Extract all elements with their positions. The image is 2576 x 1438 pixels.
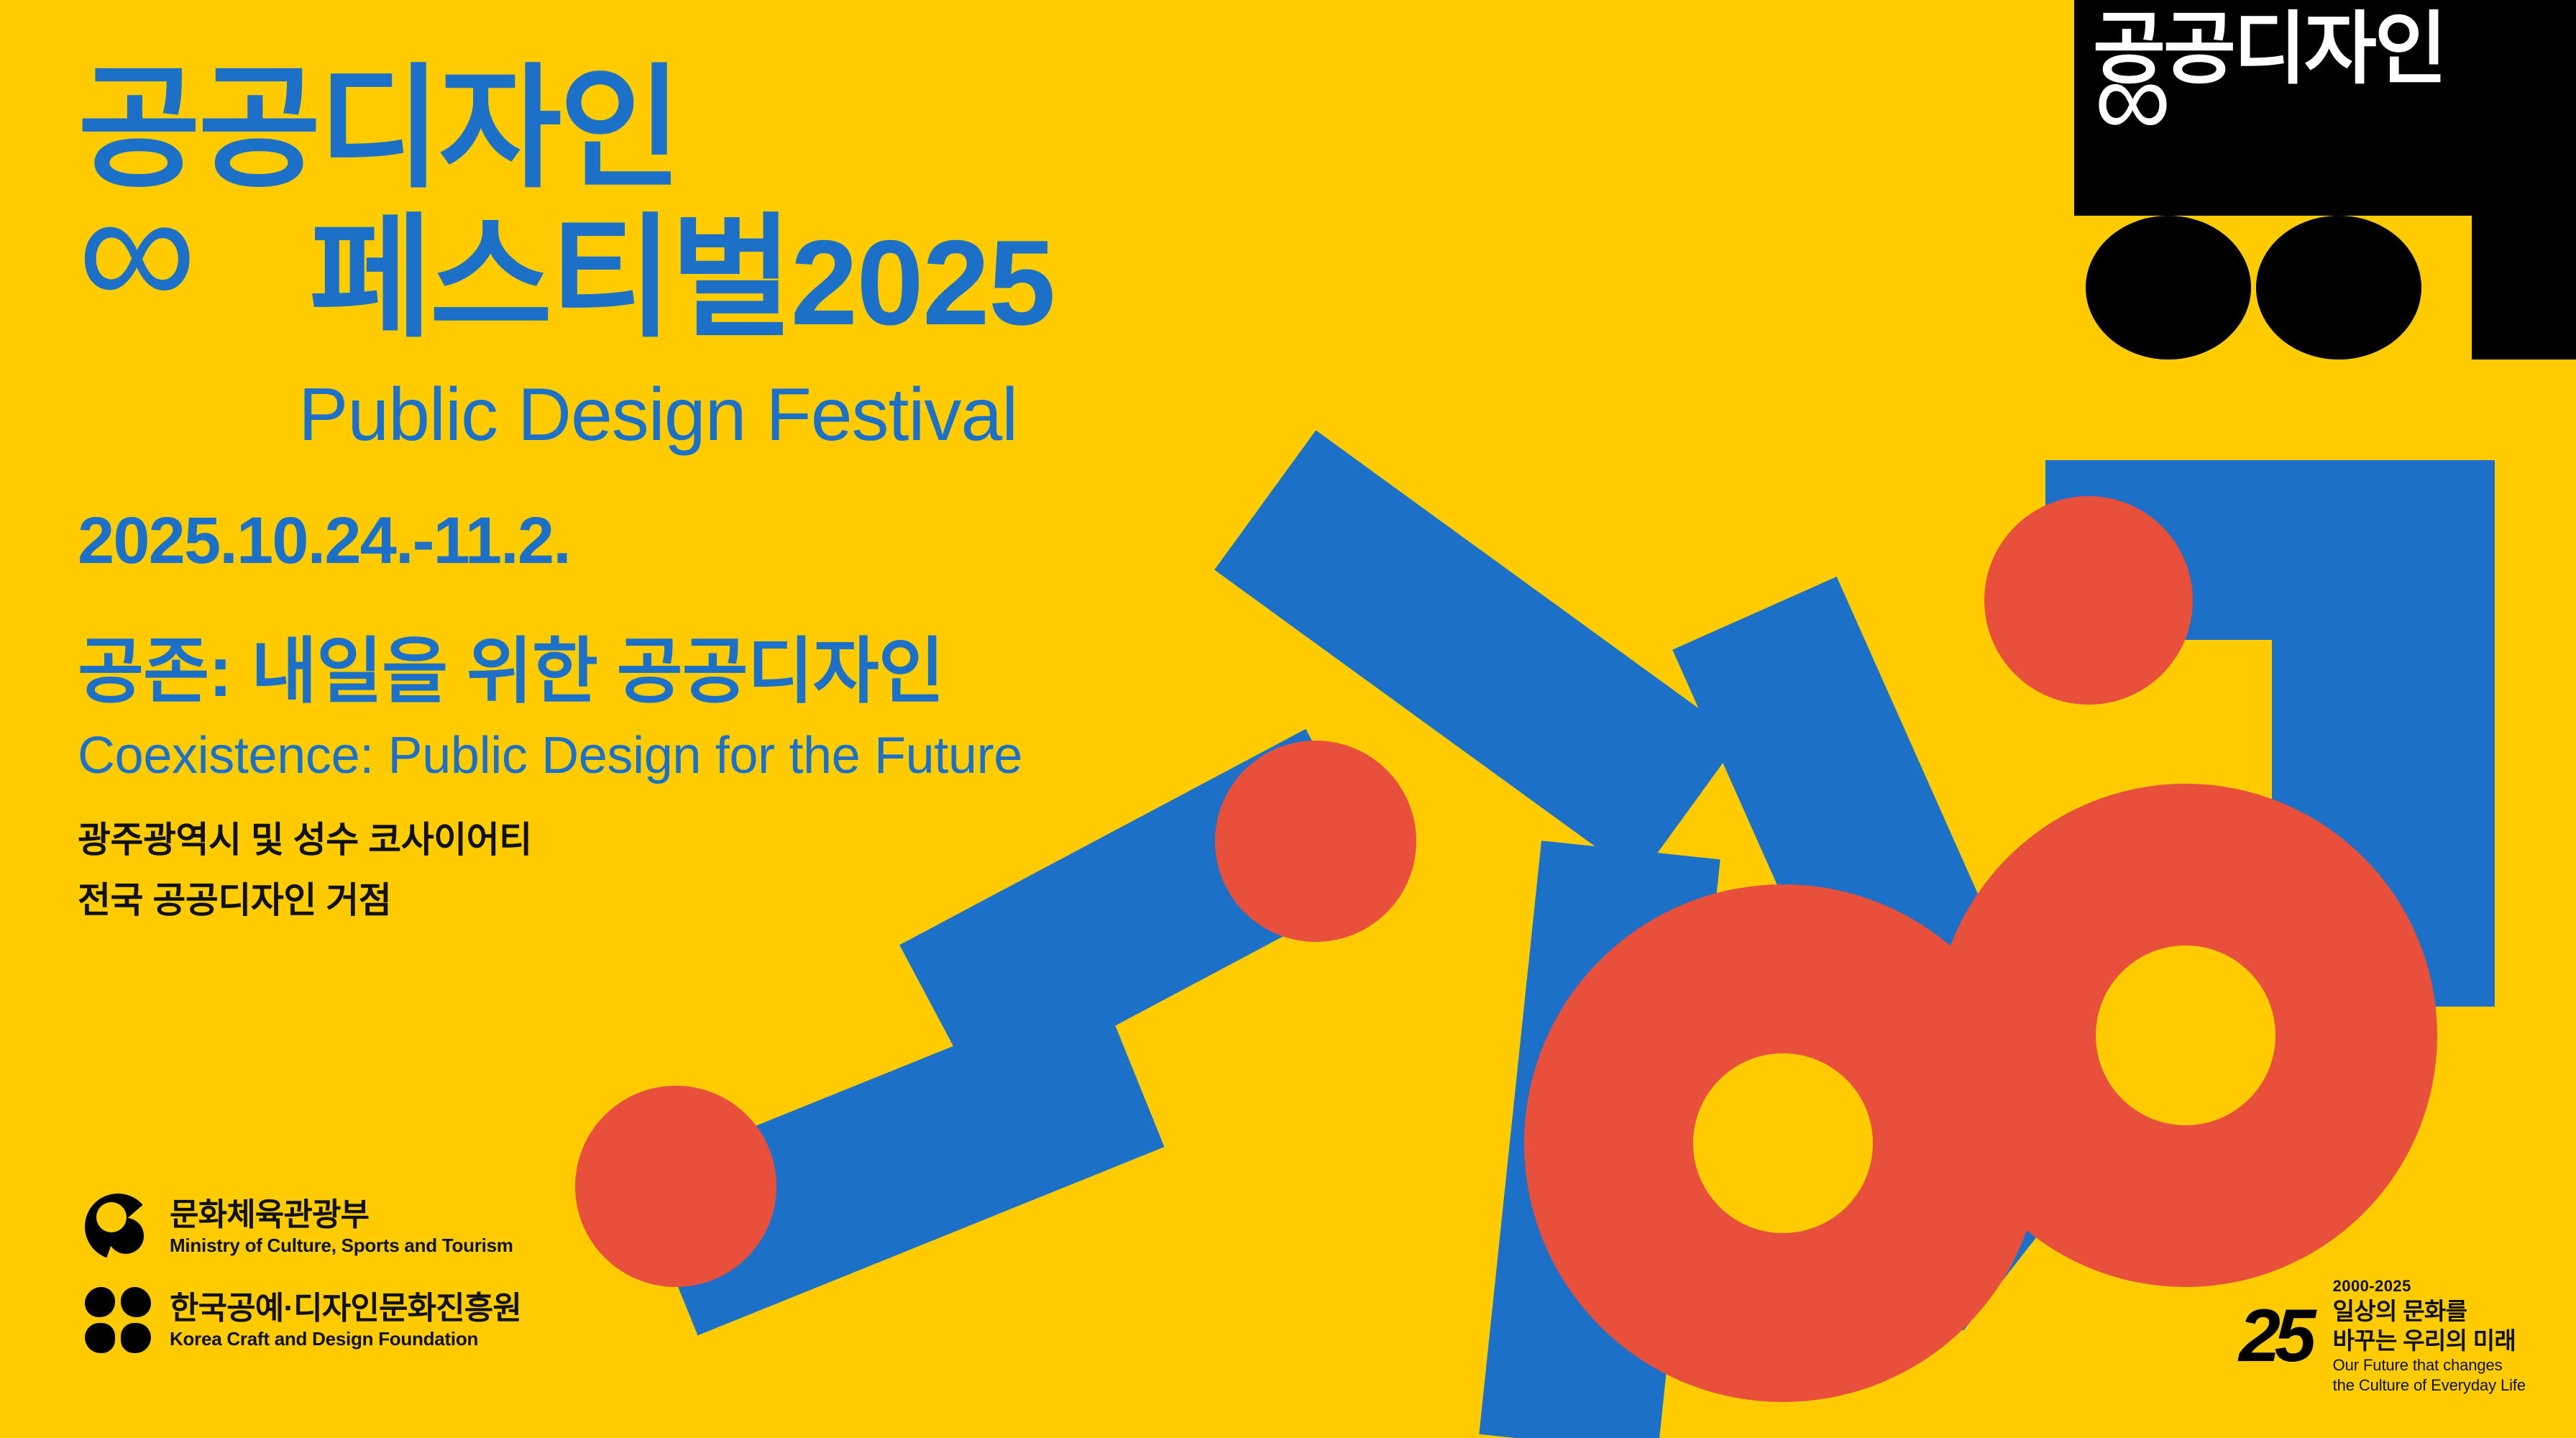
sponsor-name-ko: 한국공예·디자인문화진흥원 [170,1291,521,1326]
anniversary-badge: 25 2000-2025 일상의 문화를 바꾸는 우리의 미래 Our Futu… [2232,1276,2526,1395]
anniversary-slogan-ko-1: 일상의 문화를 [2333,1296,2526,1326]
sponsor-name-ko: 문화체육관광부 [170,1198,513,1232]
sponsor-kcdf: 한국공예·디자인문화진흥원 Korea Craft and Design Fou… [85,1287,521,1353]
theme-english: Coexistence: Public Design for the Futur… [78,726,1022,785]
sponsor-logos: 문화체육관광부 Ministry of Culture, Sports and … [85,1194,521,1380]
venue-line-1: 광주광역시 및 성수 코사이어티 [78,811,532,863]
brand-infinity-icon: ∞ [2094,45,2171,152]
anniversary-slogan-ko-2: 바꾸는 우리의 미래 [2333,1326,2526,1355]
brand-dot-icon [2086,216,2251,359]
brand-black-panel-right [2472,0,2576,359]
brand-dot-icon [2256,216,2421,359]
brand-logo-mark: 공공디자인 ∞ [2051,0,2576,359]
sponsor-name-en: Korea Craft and Design Foundation [170,1329,521,1350]
venue-line-2: 전국 공공디자인 거점 [78,871,391,923]
anniversary-25-icon: 25 [2232,1293,2317,1378]
festival-dates: 2025.10.24.-11.2. [78,503,570,579]
theme-korean: 공존: 내일을 위한 공공디자인 [78,613,944,717]
sponsor-name-en: Ministry of Culture, Sports and Tourism [170,1235,513,1256]
four-petal-icon [85,1287,151,1353]
public-design-festival-poster: 공공디자인 ∞ 페스티벌2025 Public Design Festival … [0,0,2576,1438]
sponsor-ministry: 문화체육관광부 Ministry of Culture, Sports and … [85,1194,521,1260]
festival-title-english: Public Design Festival [298,372,1017,458]
festival-title-line2: 페스티벌2025 [309,216,1055,343]
anniversary-slogan-en-1: Our Future that changes [2333,1355,2526,1375]
festival-title-line2-ko: 페스티벌 [309,204,791,353]
anniversary-slogan-en-2: the Culture of Everyday Life [2333,1375,2526,1396]
anniversary-years: 2000-2025 [2333,1276,2526,1296]
infinity-icon: ∞ [78,167,196,334]
taeguk-icon [85,1194,151,1260]
festival-year: 2025 [791,215,1055,350]
